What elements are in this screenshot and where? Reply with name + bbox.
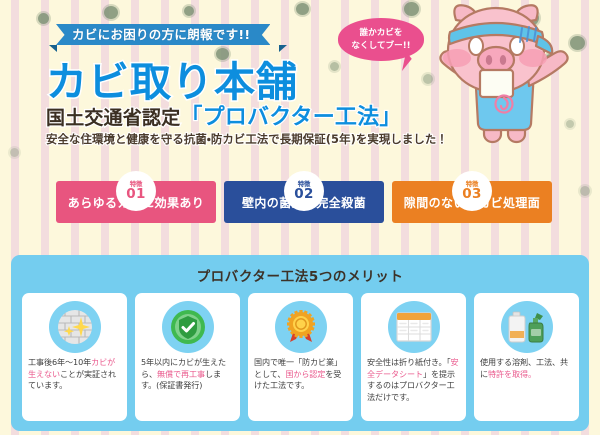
merit-4-part-0: 安全性は折り紙付き。「: [367, 357, 450, 367]
gold-award-medal-icon: [275, 301, 327, 353]
merit-1-part-0: 工事後6年～10年: [28, 357, 91, 367]
spray-bottle-icon: [501, 301, 553, 353]
merits-panel: プロバクター工法5つのメリット: [11, 255, 589, 431]
feature-badge-03-circle: 特徴 03: [452, 171, 492, 211]
speech-bubble-text: 誰かカビを なくしてブー!!: [351, 27, 410, 53]
speech-line-2: なくしてブー!!: [351, 41, 410, 51]
green-shield-check-icon: [162, 301, 214, 353]
brick-wall-sparkle-icon: [49, 301, 101, 353]
merit-5-part-1: 特許を取得。: [488, 369, 536, 379]
merit-card-4-text: 安全性は折り紙付き。「安全データシート」を提示するのはプロバクター工法だけです。: [367, 357, 461, 403]
merit-cards-row: 工事後6年～10年カビが生えないことが実証されています。 5年以内にカビが生えた…: [22, 293, 579, 421]
hero-ribbon-banner: カビにお困りの方に朗報です!!: [56, 24, 270, 45]
merit-card-1[interactable]: 工事後6年～10年カビが生えないことが実証されています。: [22, 293, 127, 421]
pig-mascot: [432, 0, 582, 158]
merit-3-part-1: 国から認定: [285, 369, 325, 379]
merit-card-2-text: 5年以内にカビが生えたら、無償で再工事します。(保証書発行): [141, 357, 235, 392]
hero-subtitle-prefix: 国土交通省認定: [46, 107, 180, 129]
hero-subtitle-highlight: 「プロバクター工法」: [180, 105, 401, 130]
feature-badge-02-number: 02: [294, 188, 314, 202]
feature-badge-03-number: 03: [462, 188, 482, 202]
page-root: カビにお困りの方に朗報です!! カビ取り本舗 国土交通省認定「プロバクター工法」…: [0, 0, 600, 435]
data-sheet-table-icon: [388, 301, 440, 353]
feature-badge-03[interactable]: 特徴 03 隙間のない防カビ処理面: [392, 181, 552, 223]
merit-card-3[interactable]: 国内で唯一「防カビ業」として、国から認定を受けた工法です。: [248, 293, 353, 421]
merit-card-4[interactable]: 安全性は折り紙付き。「安全データシート」を提示するのはプロバクター工法だけです。: [361, 293, 466, 421]
feature-badge-01-circle: 特徴 01: [116, 171, 156, 211]
feature-badge-01[interactable]: 特徴 01 あらゆるカビに効果あり: [56, 181, 216, 223]
hero-subtitle: 国土交通省認定「プロバクター工法」: [46, 99, 402, 131]
merits-title: プロバクター工法5つのメリット: [11, 265, 589, 285]
speech-line-1: 誰かカビを: [360, 28, 403, 38]
hero-lead-text: 安全な住環境と健康を守る抗菌・防カビ工法で長期保証(5年)を実現しました！: [46, 131, 448, 147]
merit-card-5[interactable]: 使用する溶剤、工法、共に特許を取得。: [474, 293, 579, 421]
merit-card-3-text: 国内で唯一「防カビ業」として、国から認定を受けた工法です。: [254, 357, 348, 392]
feature-badge-01-number: 01: [126, 188, 146, 202]
feature-badge-02-circle: 特徴 02: [284, 171, 324, 211]
merit-card-1-text: 工事後6年～10年カビが生えないことが実証されています。: [28, 357, 122, 392]
merit-card-2[interactable]: 5年以内にカビが生えたら、無償で再工事します。(保証書発行): [135, 293, 240, 421]
merit-2-part-1: 無償で再工事: [157, 369, 205, 379]
feature-badge-02[interactable]: 特徴 02 壁内の菌糸を完全殺菌: [224, 181, 384, 223]
feature-badges-row: 特徴 01 あらゆるカビに効果あり 特徴 02 壁内の菌糸を完全殺菌 特徴 03…: [0, 170, 600, 234]
merit-card-5-text: 使用する溶剤、工法、共に特許を取得。: [480, 357, 574, 380]
